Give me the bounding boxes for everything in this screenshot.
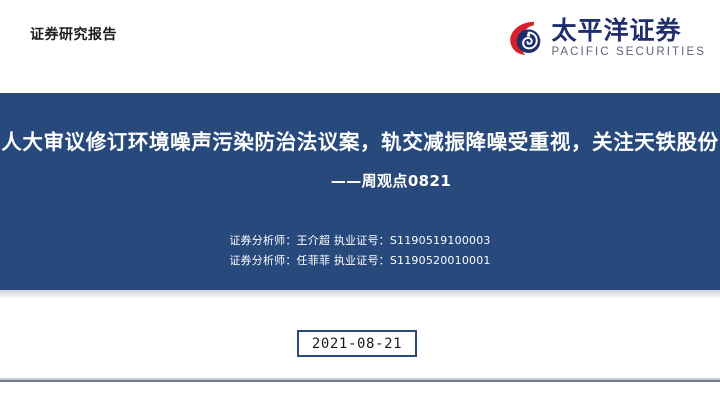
brand-name-cn: 太平洋证券 — [551, 18, 681, 43]
analyst-line: 证券分析师：王介超 执业证号：S1190519100003 — [0, 231, 720, 251]
report-title: 人大审议修订环境噪声污染防治法议案，轨交减振降噪受重视，关注天铁股份 — [0, 125, 720, 155]
cover-band-shadow — [0, 290, 720, 299]
brand-wordmark: 太平洋证券 PACIFIC SECURITIES — [551, 18, 706, 59]
brand-name-en: PACIFIC SECURITIES — [551, 47, 706, 59]
report-subtitle: ——周观点0821 — [0, 170, 720, 191]
report-date: 2021-08-21 — [312, 336, 402, 352]
report-cover-page: 证券研究报告 太平洋证券 PACIFIC SECURITIES 人大审议修订环境… — [0, 0, 720, 405]
report-date-box: 2021-08-21 — [297, 330, 417, 357]
pacific-securities-logo-mark-icon — [508, 19, 544, 57]
cover-header: 证券研究报告 太平洋证券 PACIFIC SECURITIES — [0, 0, 720, 93]
analyst-line: 证券分析师：任菲菲 执业证号：S1190520010001 — [0, 251, 720, 271]
report-type-label: 证券研究报告 — [30, 24, 117, 44]
brand-logo: 太平洋证券 PACIFIC SECURITIES — [508, 18, 706, 59]
analyst-list: 证券分析师：王介超 执业证号：S1190519100003 证券分析师：任菲菲 … — [0, 231, 720, 271]
footer-rule — [0, 380, 720, 382]
